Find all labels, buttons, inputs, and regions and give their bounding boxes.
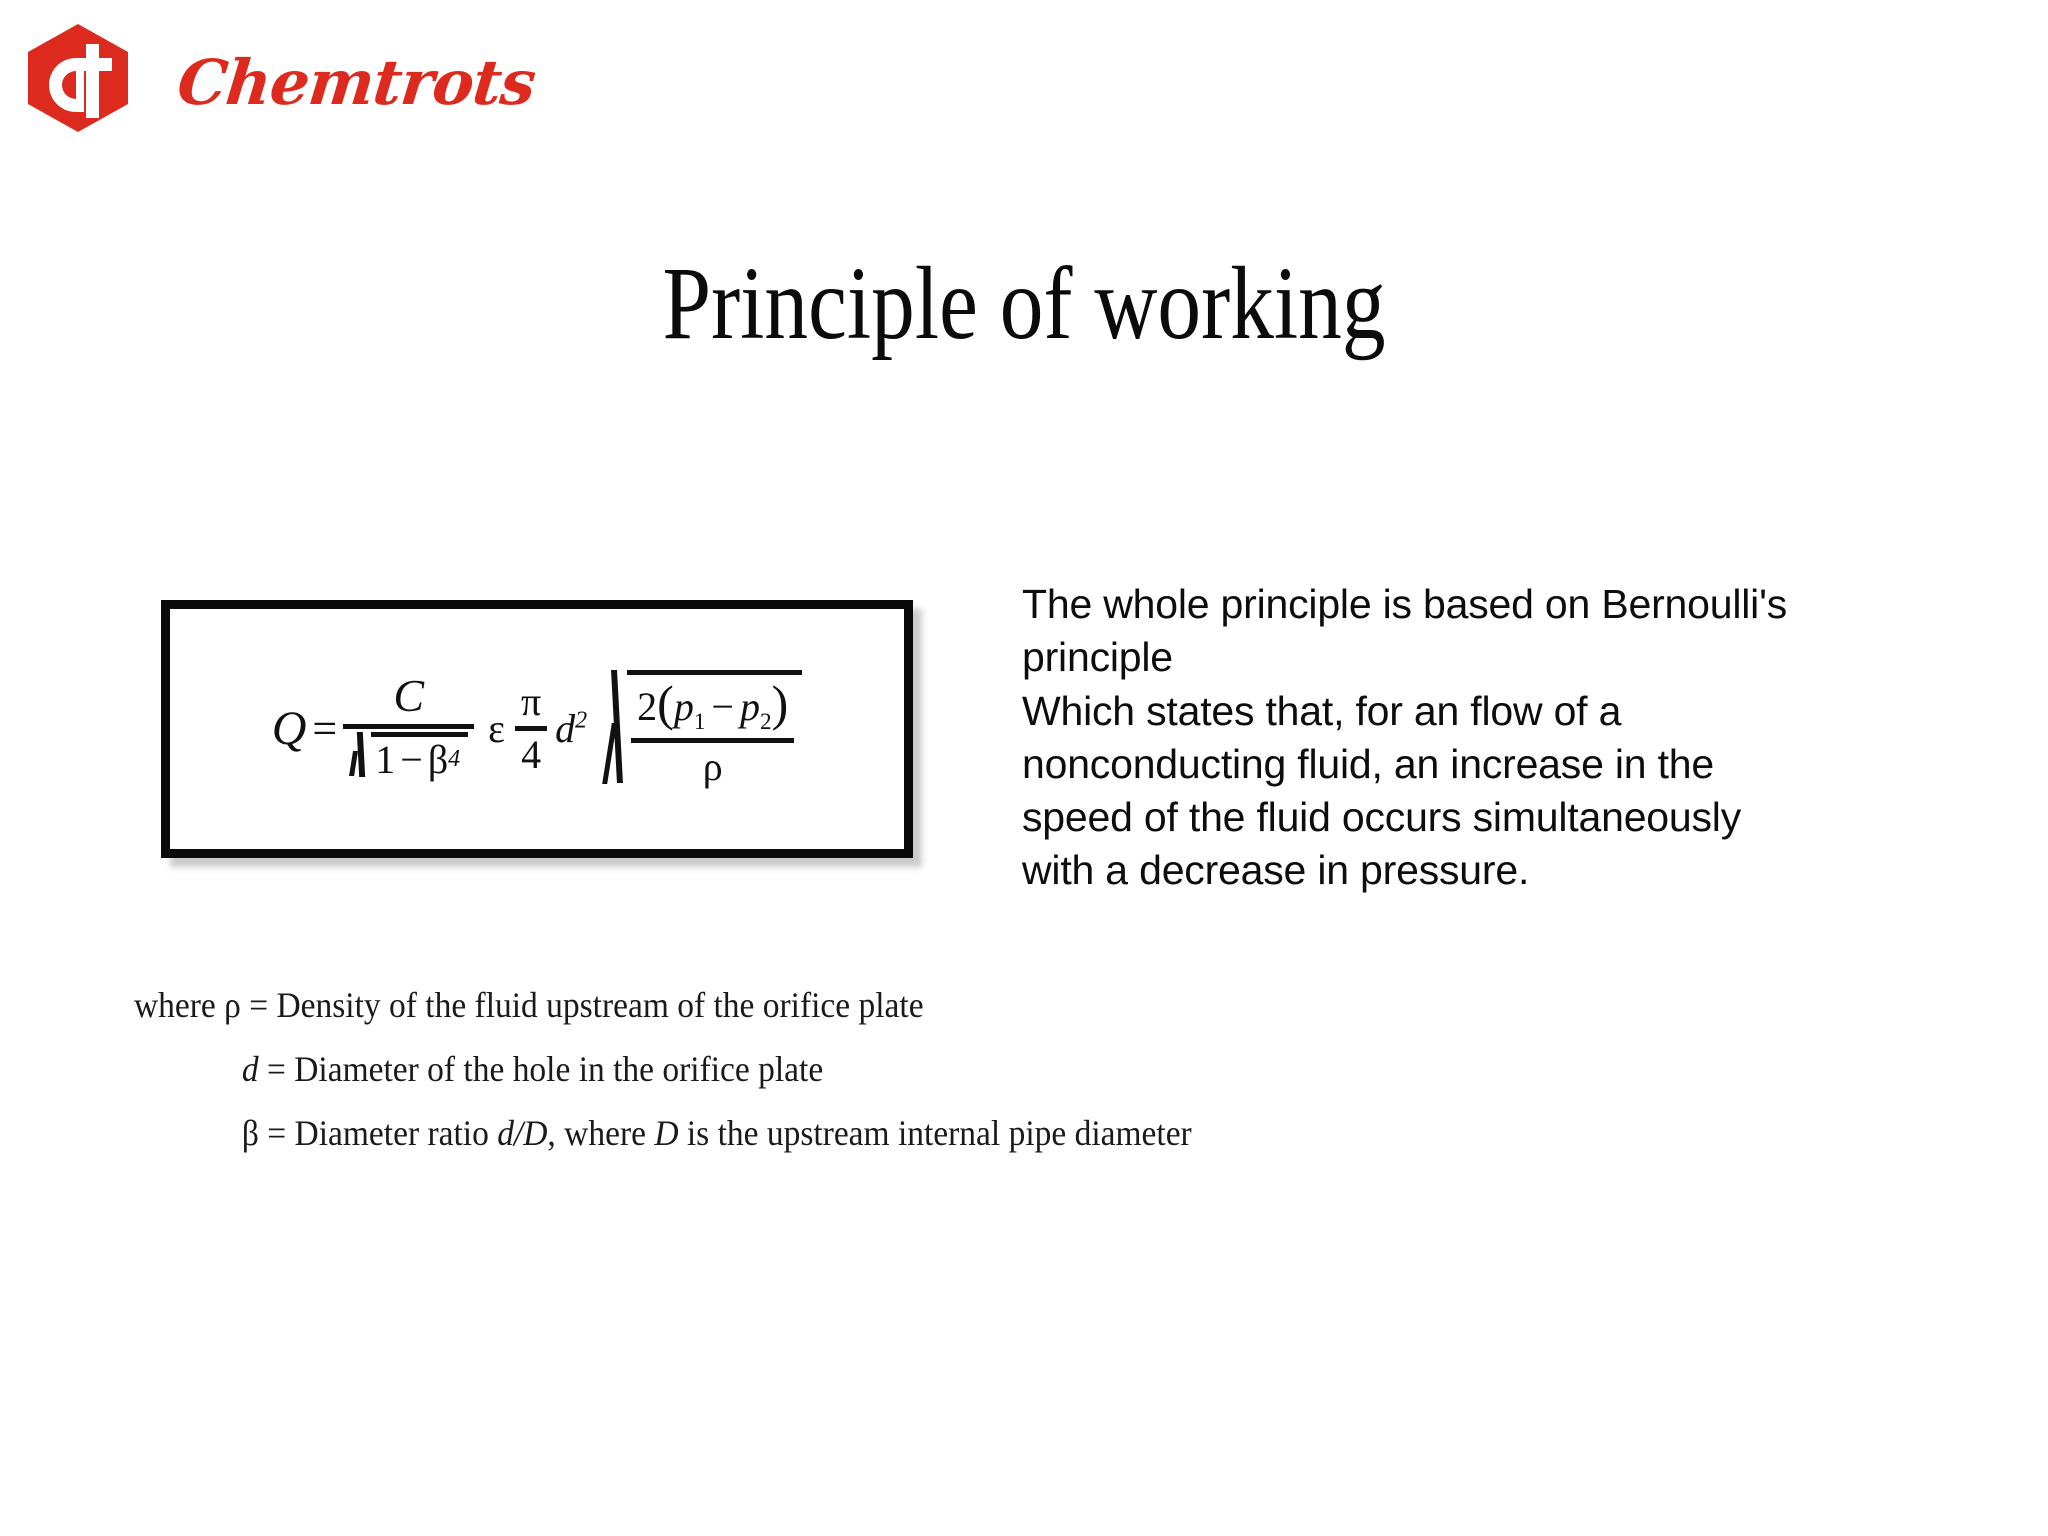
beta-definition-text-a: = Diameter ratio xyxy=(259,1113,497,1153)
radicand-beta: β xyxy=(428,739,448,781)
radical-sign-2-icon xyxy=(605,670,627,787)
rho-definition-text: = Density of the fluid upstream of the o… xyxy=(241,985,924,1025)
p2-variable: p xyxy=(740,684,760,729)
principle-line-5: speed of the fluid occurs simultaneously xyxy=(1022,791,1952,844)
ratio-slash: / xyxy=(514,1113,523,1153)
d-definition-text: = Diameter of the hole in the orifice pl… xyxy=(259,1049,824,1089)
pressure-fraction-bar xyxy=(631,738,794,743)
page-title: Principle of working xyxy=(164,248,1884,360)
definition-rho: where ρ = Density of the fluid upstream … xyxy=(134,984,1715,1028)
beta-definition-text-b: , where xyxy=(547,1113,654,1153)
radicand-beta-exponent: 4 xyxy=(448,747,460,772)
principle-description: The whole principle is based on Bernoull… xyxy=(1022,578,1952,898)
upstream-D: D xyxy=(654,1113,678,1153)
pressure-radicand: 2(p1−p2) ρ xyxy=(627,670,802,787)
fraction-numerator-c: C xyxy=(387,672,430,720)
sqrt-pressure-term: 2(p1−p2) ρ xyxy=(587,670,802,787)
principle-line-4: nonconducting fluid, an increase in the xyxy=(1022,738,1952,791)
d-exponent: 2 xyxy=(575,708,587,734)
definition-beta: β = Diameter ratio d/D, where D is the u… xyxy=(134,1112,1715,1156)
fraction-pressure-over-rho: 2(p1−p2) ρ xyxy=(631,677,794,787)
pi-numerator: π xyxy=(515,681,547,723)
fraction-bar xyxy=(343,724,474,729)
brand-wordmark: Chemtrots xyxy=(175,52,538,114)
fraction-denominator: 1 − β 4 xyxy=(343,732,474,786)
pi-fraction-bar xyxy=(515,726,547,731)
equation-epsilon: ε xyxy=(474,705,515,752)
principle-line-3: Which states that, for an flow of a xyxy=(1022,685,1952,738)
numerator-two: 2 xyxy=(637,684,657,729)
beta-symbol: β xyxy=(242,1113,259,1153)
d-symbol-italic: d xyxy=(242,1049,259,1089)
four-denominator: 4 xyxy=(515,734,547,776)
radicand-one: 1 xyxy=(375,739,395,781)
rho-denominator: ρ xyxy=(697,746,729,788)
p2-subscript: 2 xyxy=(760,709,772,735)
pressure-numerator: 2(p1−p2) xyxy=(631,677,794,734)
ratio-d: d xyxy=(497,1113,514,1153)
radicand-content: 1 − β 4 xyxy=(371,732,468,781)
pressure-minus: − xyxy=(705,684,740,729)
brand-logo: Chemtrots xyxy=(18,18,438,134)
principle-line-6: with a decrease in pressure. xyxy=(1022,844,1952,897)
sqrt-one-minus-beta4: 1 − β 4 xyxy=(349,732,468,781)
formula-equation: Q = C 1 − β 4 xyxy=(170,609,904,849)
equation-row: Q = C 1 − β 4 xyxy=(272,670,802,787)
slide-canvas: Chemtrots Principle of working Q = C 1 xyxy=(0,0,2048,1536)
equation-lhs: Q xyxy=(272,701,307,756)
equation-d-symbol: d2 xyxy=(547,705,587,752)
principle-line-2: principle xyxy=(1022,631,1952,684)
principle-line-1: The whole principle is based on Bernoull… xyxy=(1022,578,1952,631)
d-variable: d xyxy=(555,706,575,751)
close-paren: ) xyxy=(772,675,789,731)
p1-variable: p xyxy=(674,684,694,729)
fraction-c-over-sqrt: C 1 − β 4 xyxy=(343,672,474,785)
rho-symbol: ρ xyxy=(224,985,241,1025)
formula-box: Q = C 1 − β 4 xyxy=(161,600,913,858)
symbol-definitions: where ρ = Density of the fluid upstream … xyxy=(134,984,1715,1176)
open-paren: ( xyxy=(657,675,674,731)
beta-definition-text-c: is the upstream internal pipe diameter xyxy=(679,1113,1192,1153)
radicand-minus: − xyxy=(395,739,428,781)
equation-equals: = xyxy=(306,703,343,754)
fraction-pi-over-four: π 4 xyxy=(515,681,547,776)
definition-d: d = Diameter of the hole in the orifice … xyxy=(134,1048,1715,1092)
where-label: where xyxy=(134,985,224,1025)
radical-sign-icon xyxy=(349,732,371,781)
hexagon-ct-monogram-icon xyxy=(24,22,132,134)
ratio-D: D xyxy=(523,1113,547,1153)
p1-subscript: 1 xyxy=(694,709,706,735)
